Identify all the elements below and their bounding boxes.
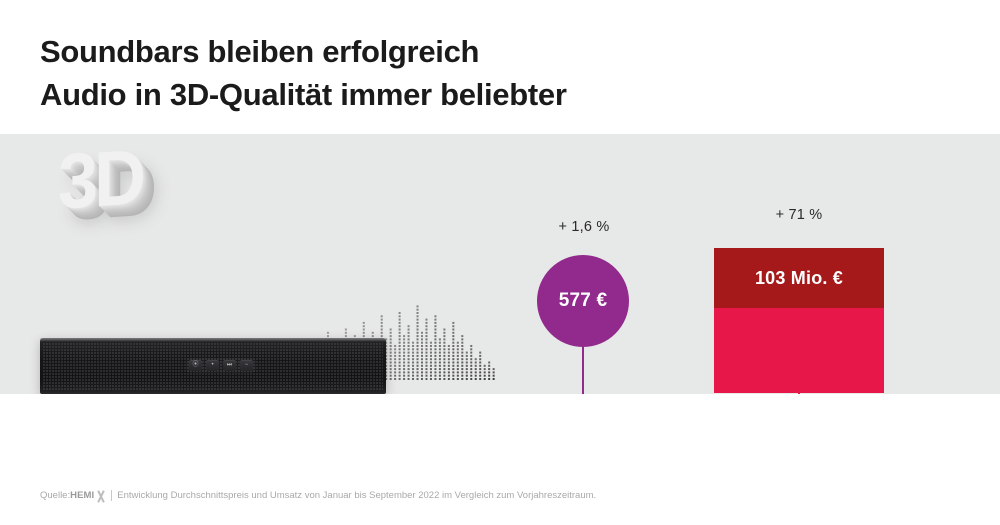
hemix-x-logo-icon bbox=[94, 490, 107, 503]
three-d-sculpture-text: 3D bbox=[58, 134, 142, 227]
page-title-line-1: Soundbars bleiben erfolgreich bbox=[40, 34, 479, 70]
revenue-value-band: 103 Mio. € bbox=[714, 248, 884, 308]
price-value-text: 577 € bbox=[559, 290, 608, 312]
soundbar-control-panel: ⦿ • ⏭ − bbox=[186, 358, 256, 373]
price-change-label: + 1,6 % bbox=[536, 219, 632, 235]
revenue-value-text: 103 Mio. € bbox=[755, 268, 843, 289]
soundbar-button-power: ⦿ bbox=[189, 360, 202, 371]
soundbar-top-edge bbox=[40, 338, 386, 342]
source-divider bbox=[111, 490, 112, 501]
source-note: Quelle: HEMI Entwicklung Durchschnittspr… bbox=[40, 490, 596, 501]
soundbar-button-source: • bbox=[206, 360, 219, 371]
soundbar-device: ⦿ • ⏭ − bbox=[40, 338, 386, 394]
source-description-text: Entwicklung Durchschnittspreis und Umsat… bbox=[117, 490, 596, 501]
revenue-change-label: + 71 % bbox=[731, 207, 867, 223]
revenue-value-block: 103 Mio. € bbox=[714, 248, 884, 393]
footer-band: Quelle: HEMI Entwicklung Durchschnittspr… bbox=[0, 394, 1000, 525]
price-value-bubble: 577 € bbox=[537, 255, 629, 347]
page-title-line-2: Audio in 3D-Qualität immer beliebter bbox=[40, 77, 567, 113]
source-brand-text: HEMI bbox=[70, 490, 94, 501]
source-prefix-text: Quelle: bbox=[40, 490, 70, 501]
soundbar-product-image: 3D ⦿ • ⏭ − bbox=[0, 134, 500, 394]
header-band: Soundbars bleiben erfolgreich Audio in 3… bbox=[0, 0, 1000, 134]
soundbar-button-volume-down: − bbox=[240, 360, 253, 371]
soundbar-button-next: ⏭ bbox=[223, 360, 236, 371]
